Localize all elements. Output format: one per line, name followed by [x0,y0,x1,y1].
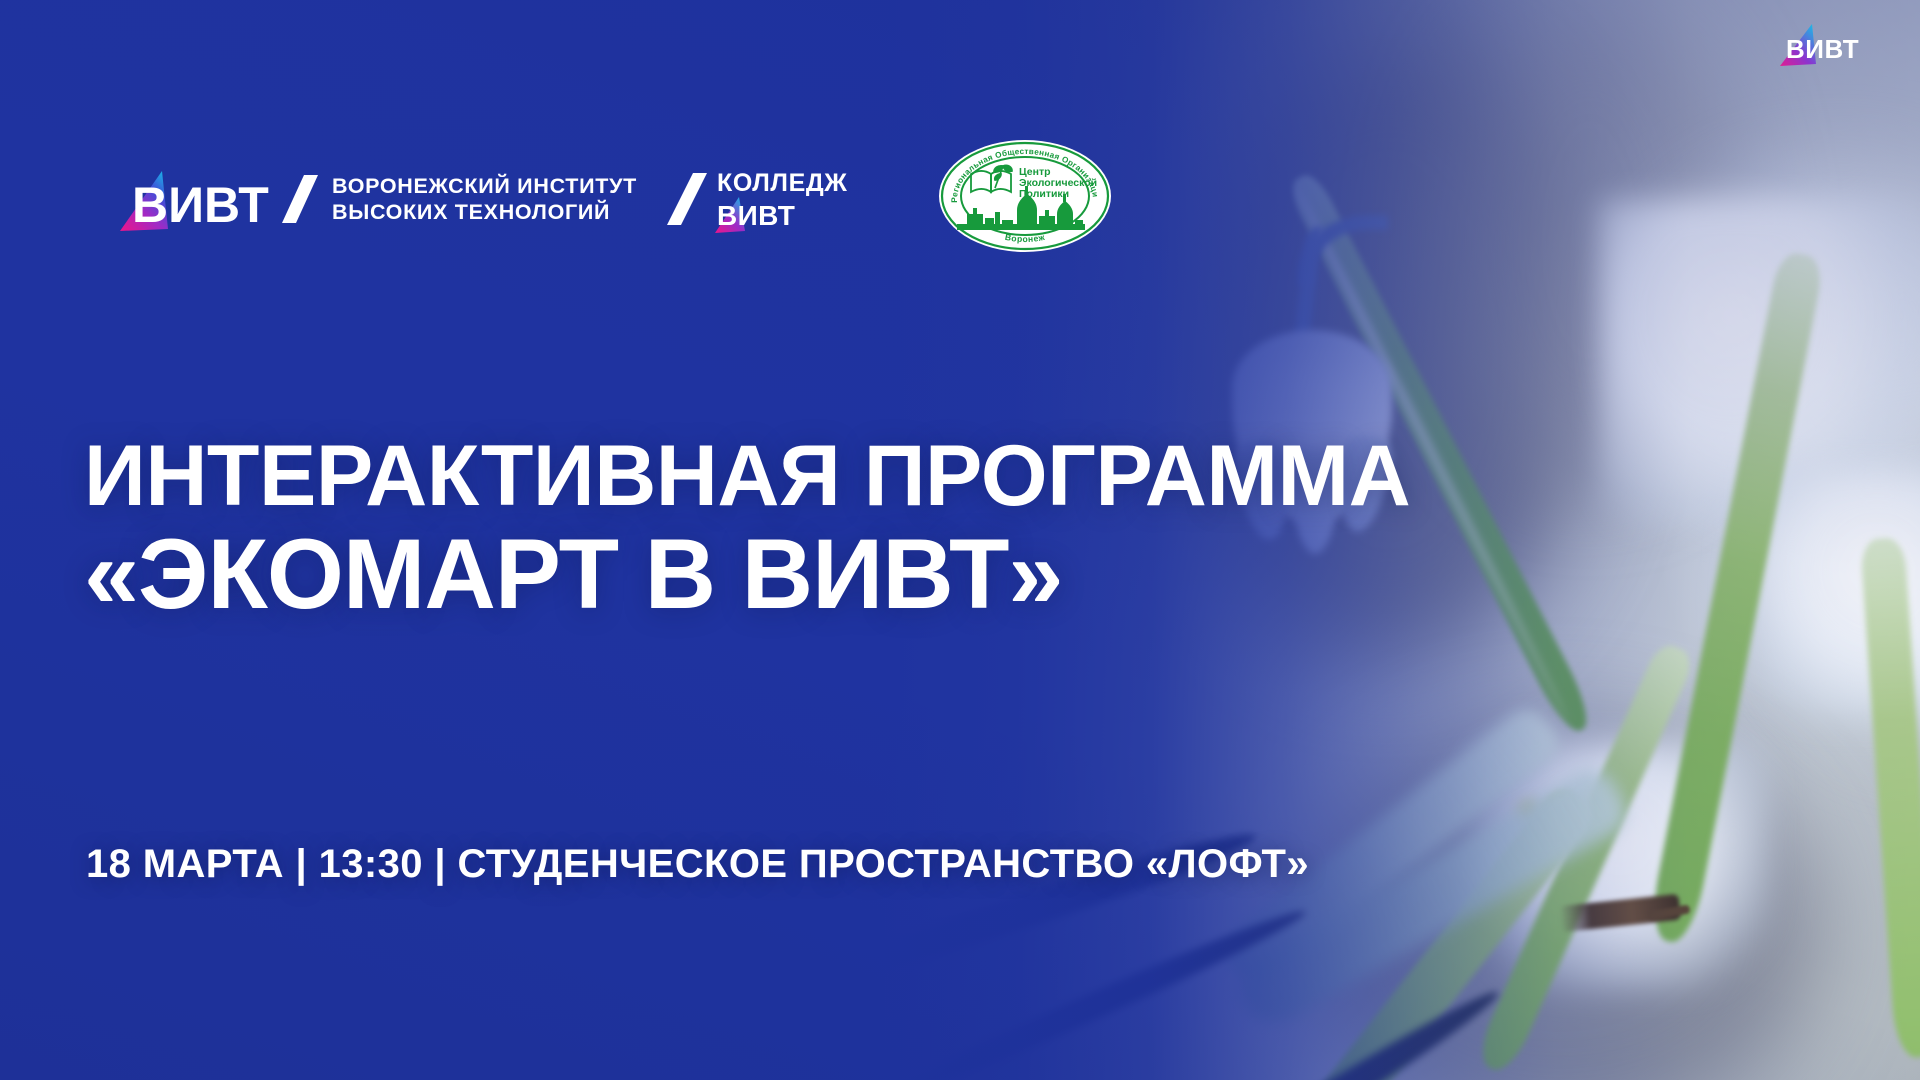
university-name: ВОРОНЕЖСКИЙ ИНСТИТУТ ВЫСОКИХ ТЕХНОЛОГИЙ [332,171,637,225]
brand-logo-row: ВИВТ ВОРОНЕЖСКИЙ ИНСТИТУТ ВЫСОКИХ ТЕХНОЛ… [118,142,1113,254]
page-title: ИНТЕРАКТИВНАЯ ПРОГРАММА «ЭКОМАРТ В ВИВТ» [84,430,1584,628]
headline-line-2: «ЭКОМАРТ В ВИВТ» [84,521,1584,628]
svg-text:ВИВТ: ВИВТ [1786,34,1859,64]
university-name-line1: ВОРОНЕЖСКИЙ ИНСТИТУТ [332,173,637,199]
vivt-logo-mark: ВИВТ [118,165,318,231]
university-name-line2: ВЫСОКИХ ТЕХНОЛОГИЙ [332,199,637,225]
event-poster: ВИВТ ВИВТ [0,0,1920,1080]
college-logo-block: КОЛЛЕДЖ ВИВТ [715,163,893,233]
svg-text:ВИВТ: ВИВТ [132,177,269,231]
svg-text:КОЛЛЕДЖ: КОЛЛЕДЖ [717,169,847,197]
ecology-center-seal: Региональная Общественная Организация Во… [937,138,1113,254]
slash-icon [667,173,707,225]
svg-text:ВИВТ: ВИВТ [717,200,795,231]
slash-icon [282,175,318,223]
headline-line-1: ИНТЕРАКТИВНАЯ ПРОГРАММА [84,430,1584,523]
vivt-watermark-logo: ВИВТ [1772,14,1892,72]
brand-divider-slash [653,167,711,229]
event-details-line: 18 МАРТА | 13:30 | СТУДЕНЧЕСКОЕ ПРОСТРАН… [86,842,1309,887]
poster-content: ВИВТ ВИВТ [0,0,1920,1080]
